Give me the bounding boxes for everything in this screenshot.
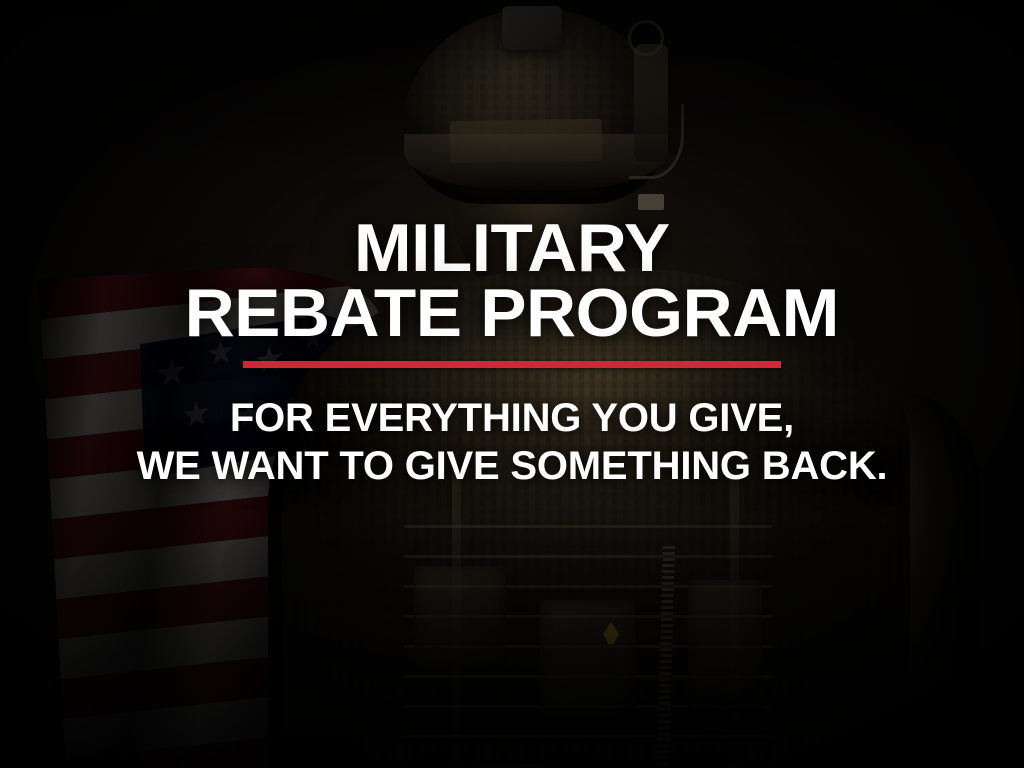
poster-content: MILITARY REBATE PROGRAM FOR EVERYTHING Y… xyxy=(0,0,1024,768)
military-rebate-poster: MILITARY REBATE PROGRAM FOR EVERYTHING Y… xyxy=(0,0,1024,768)
subtitle-line-2: WE WANT TO GIVE SOMETHING BACK. xyxy=(137,442,888,491)
headline-line-1: MILITARY xyxy=(185,216,839,281)
subtitle-line-1: FOR EVERYTHING YOU GIVE, xyxy=(137,394,888,443)
red-divider-rule xyxy=(243,361,781,368)
page-title: MILITARY REBATE PROGRAM xyxy=(191,216,833,347)
headline-line-2: REBATE PROGRAM xyxy=(185,281,839,346)
subtitle: FOR EVERYTHING YOU GIVE, WE WANT TO GIVE… xyxy=(137,394,888,492)
